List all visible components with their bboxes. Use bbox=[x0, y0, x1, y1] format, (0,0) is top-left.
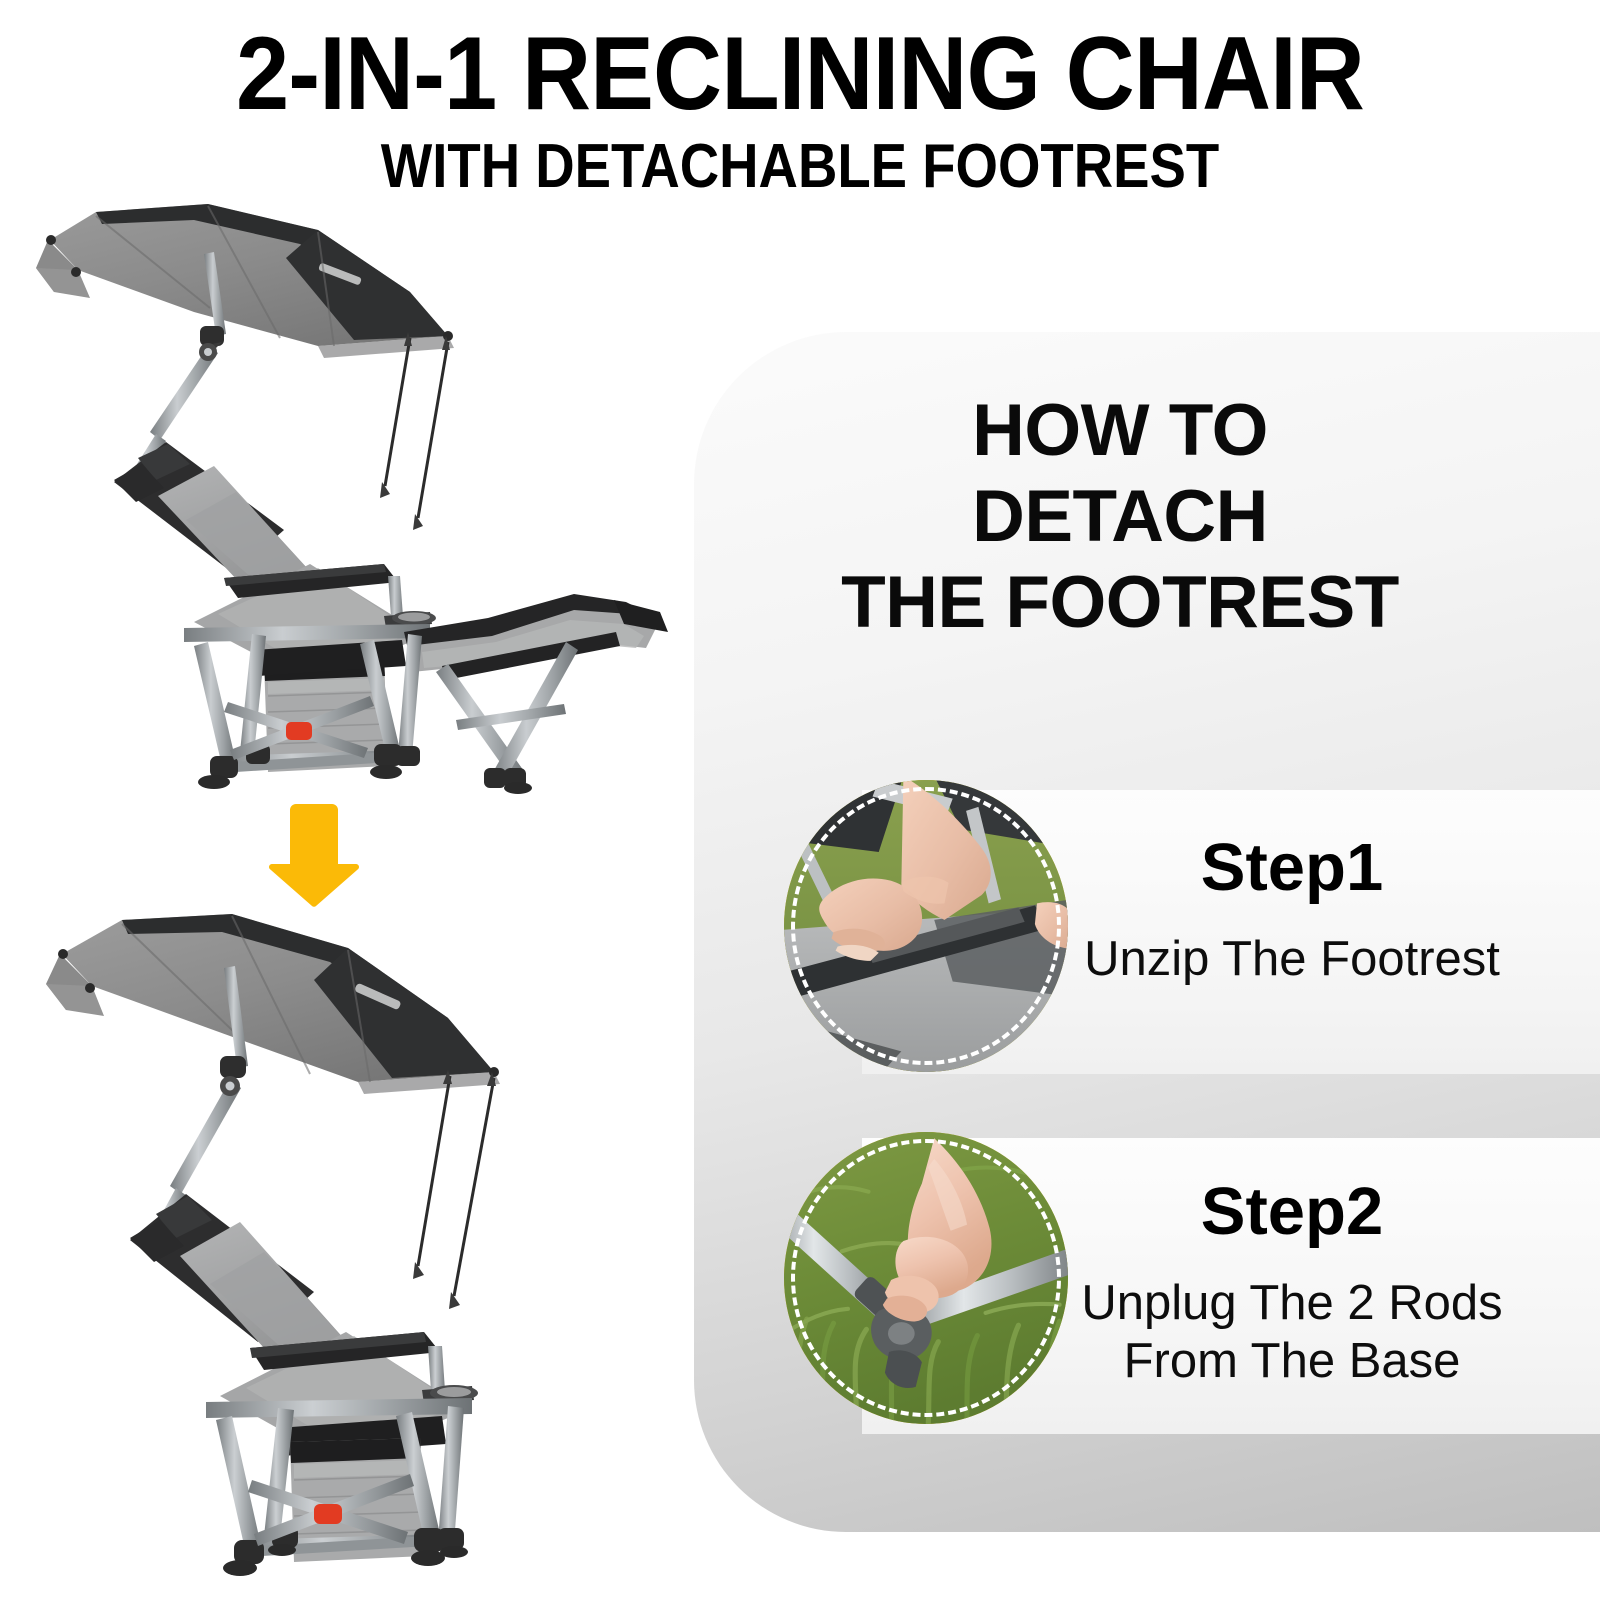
chair-without-footrest-art bbox=[18, 896, 638, 1586]
down-arrow-icon bbox=[264, 800, 364, 910]
chair-without-footrest-image bbox=[18, 896, 638, 1586]
headline-block: 2-IN-1 RECLINING CHAIR WITH DETACHABLE F… bbox=[0, 0, 1600, 210]
panel-heading-line-1: HOW TO bbox=[694, 388, 1546, 474]
step-1-dashed-ring bbox=[791, 787, 1061, 1065]
step-1-description: Unzip The Footrest bbox=[1022, 930, 1562, 988]
step-2-text: Step2 Unplug The 2 Rods From The Base bbox=[1022, 1176, 1582, 1390]
step-1-title: Step1 bbox=[1022, 832, 1562, 904]
step-2-description-line-2: From The Base bbox=[1022, 1332, 1562, 1390]
chair-with-footrest-image bbox=[18, 196, 678, 796]
page-subtitle: WITH DETACHABLE FOOTREST bbox=[96, 134, 1504, 200]
panel-heading: HOW TO DETACH THE FOOTREST bbox=[694, 388, 1600, 646]
panel-heading-line-2: DETACH bbox=[694, 474, 1546, 560]
step-1-text: Step1 Unzip The Footrest bbox=[1022, 832, 1582, 988]
step-2-title: Step2 bbox=[1022, 1176, 1562, 1248]
red-release-button bbox=[286, 722, 312, 740]
page-title: 2-IN-1 RECLINING CHAIR bbox=[64, 0, 1536, 130]
red-release-button bbox=[314, 1504, 342, 1524]
step-2-description-line-1: Unplug The 2 Rods bbox=[1022, 1274, 1562, 1332]
step-2-description: Unplug The 2 Rods From The Base bbox=[1022, 1274, 1562, 1390]
down-arrow-glyph bbox=[264, 800, 364, 910]
chair-with-footrest-art bbox=[18, 196, 678, 796]
panel-heading-line-3: THE FOOTREST bbox=[694, 560, 1546, 646]
step-2-dashed-ring bbox=[791, 1139, 1061, 1417]
